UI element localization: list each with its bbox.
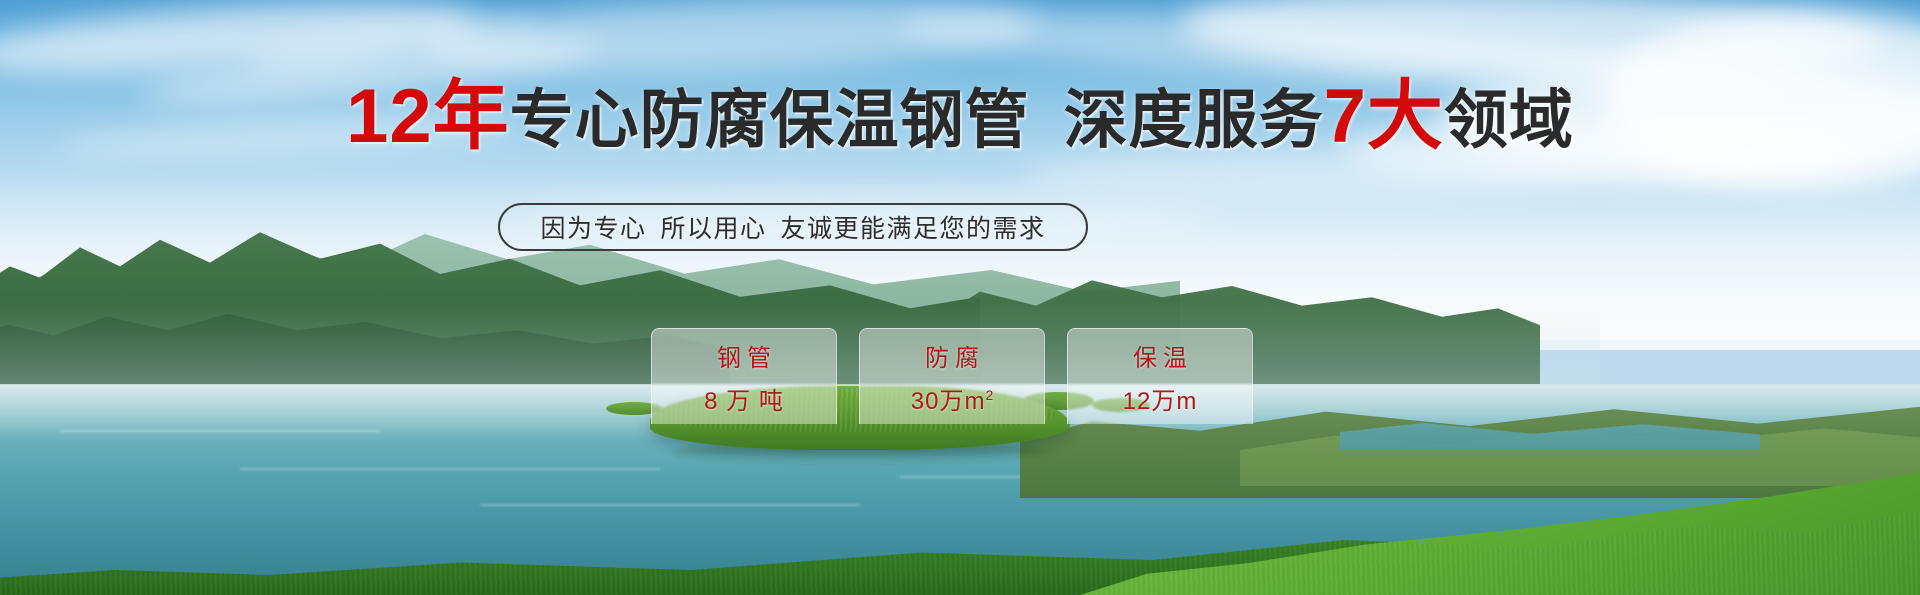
stat-value-text: 8 万 吨 [704,388,784,415]
stat-card-steel-pipe: 钢管 8 万 吨 [651,328,837,424]
stat-value: 30万m2 [911,381,993,416]
headline-main: 专心防腐保温钢管 [510,84,1030,156]
stat-value: 12万m [1123,381,1198,416]
water-ripple [240,468,660,470]
headline-fields-number: 7大 [1324,74,1444,159]
subtitle-pill: 因为专心所以用心友诚更能满足您的需求 [498,203,1088,251]
subtitle-part-1: 因为专心 [540,215,646,243]
water-ripple [480,504,860,506]
stat-card-anticorrosion: 防腐 30万m2 [859,328,1045,424]
subtitle-text: 因为专心所以用心友诚更能满足您的需求 [540,209,1045,245]
headline-service: 深度服务 [1064,84,1324,156]
headline-years: 12年 [346,74,510,159]
stat-value-text: 12万m [1123,388,1198,415]
hero-banner: 12年专心防腐保温钢管深度服务7大领域 因为专心所以用心友诚更能满足您的需求 钢… [0,0,1920,595]
stat-label: 防腐 [919,338,985,373]
stat-value-sup: 2 [985,387,993,403]
water-ripple [60,430,380,432]
stat-card-insulation: 保温 12万m [1067,328,1253,424]
headline-fields: 领域 [1444,84,1574,156]
stat-value: 8 万 吨 [704,381,784,416]
stat-label: 钢管 [711,338,777,373]
subtitle-part-3: 友诚更能满足您的需求 [781,215,1046,243]
stat-value-text: 30万m [911,388,986,415]
banner-headline: 12年专心防腐保温钢管深度服务7大领域 [0,82,1920,155]
stat-card-group: 钢管 8 万 吨 防腐 30万m2 保温 12万m [651,328,1253,424]
stat-label: 保温 [1127,338,1193,373]
subtitle-part-2: 所以用心 [660,215,766,243]
